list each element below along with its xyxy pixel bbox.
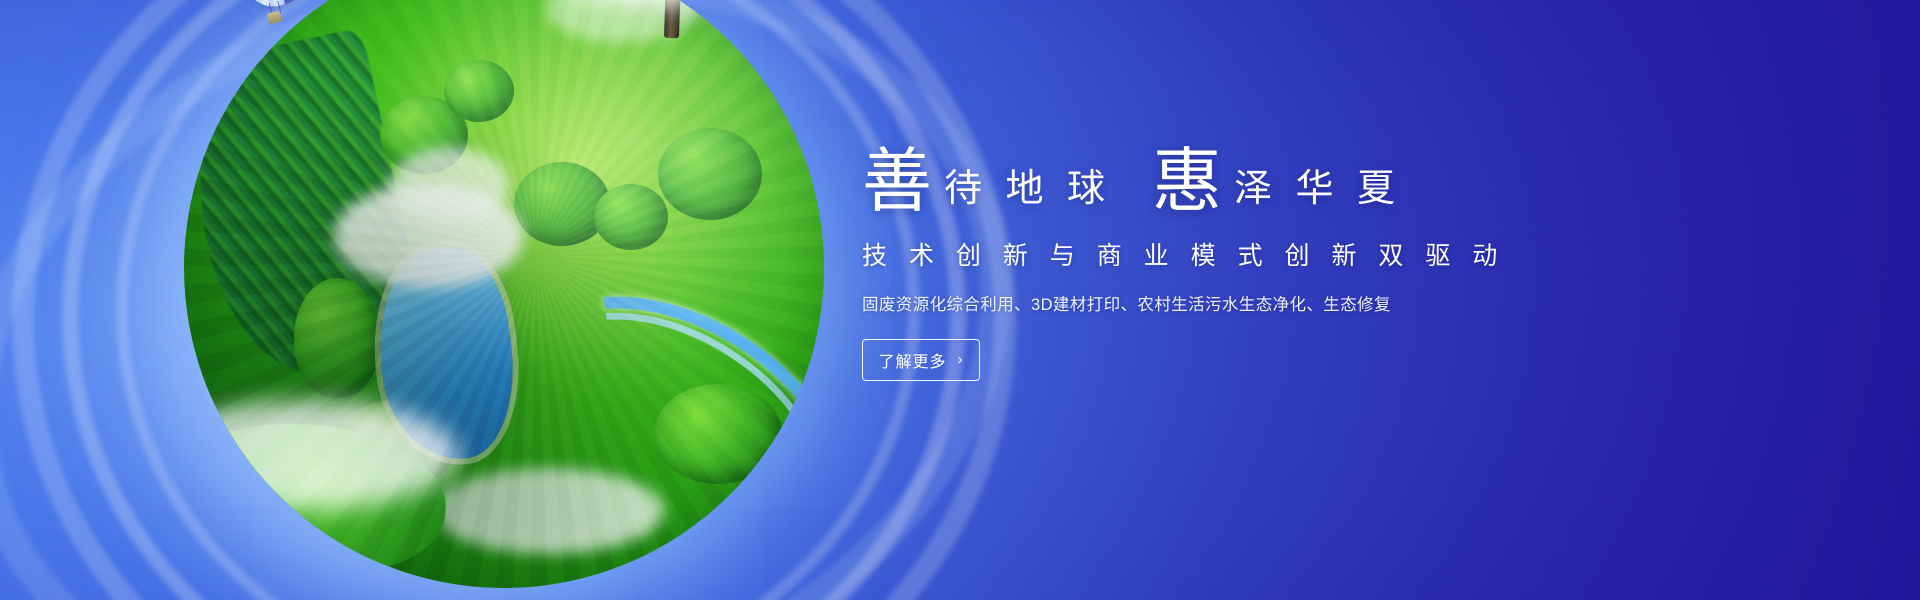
- green-globe: [184, 0, 824, 588]
- tree-canopy: [380, 96, 468, 174]
- chevron-right-icon: ›: [958, 352, 964, 367]
- subtitle: 技 术 创 新 与 商 业 模 式 创 新 双 驱 动: [862, 236, 1482, 272]
- tree-canopy: [294, 278, 380, 398]
- headline-char-secondary: 惠: [1152, 148, 1222, 218]
- foreground-tree: [184, 424, 466, 588]
- foreground-tree-mist: [184, 400, 458, 510]
- hero-copy: 善 待 地 球 惠 泽 华 夏 技 术 创 新 与 商 业 模 式 创 新 双 …: [862, 128, 1482, 381]
- hero-tree-trunk: [664, 0, 683, 38]
- headline-char-primary: 善: [862, 148, 932, 218]
- description: 固废资源化综合利用、3D建材打印、农村生活污水生态净化、生态修复: [862, 291, 1482, 315]
- cloud: [434, 468, 664, 554]
- hero-tree-mist: [524, 0, 824, 8]
- headline-rest-secondary: 泽 华 夏: [1222, 170, 1402, 208]
- headline-rest-primary: 待 地 球: [932, 170, 1112, 208]
- hero-tree: [534, 0, 824, 10]
- tree-canopy: [594, 184, 668, 250]
- cloud: [390, 148, 510, 224]
- tree-canopy: [334, 400, 454, 492]
- headline: 善 待 地 球 惠 泽 华 夏: [862, 128, 1482, 214]
- cloud: [334, 184, 524, 288]
- hero-banner: 善 待 地 球 惠 泽 华 夏 技 术 创 新 与 商 业 模 式 创 新 双 …: [0, 0, 1920, 600]
- balloon-basket: [267, 11, 282, 25]
- tree-canopy: [514, 162, 610, 246]
- learn-more-button[interactable]: 了解更多 ›: [862, 339, 980, 381]
- river-highlight: [468, 257, 824, 588]
- cloud: [546, 0, 696, 42]
- tree-canopy: [444, 60, 514, 122]
- planet-artwork: [108, 0, 898, 600]
- tree-canopy: [658, 128, 762, 220]
- lake: [366, 240, 526, 468]
- learn-more-label: 了解更多: [878, 348, 946, 372]
